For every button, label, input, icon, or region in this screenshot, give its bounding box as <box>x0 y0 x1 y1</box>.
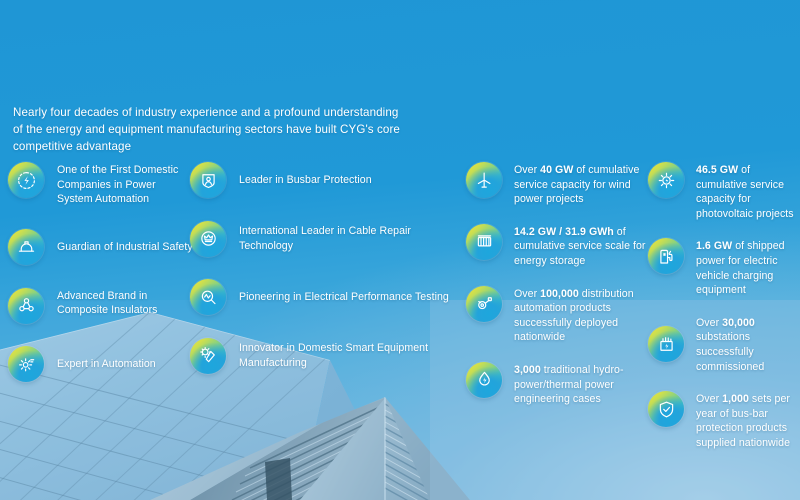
list-item-label: Guardian of Industrial Safety <box>44 239 193 255</box>
intro-paragraph: Nearly four decades of industry experien… <box>13 104 403 156</box>
stat-value: 30,000 <box>722 317 755 329</box>
stat-prefix: Over <box>696 317 722 329</box>
list-item-label: 14.2 GW / 31.9 GWh of cumulative service… <box>502 224 648 269</box>
list-item[interactable]: Expert in Automation <box>8 346 194 382</box>
list-item-label: 1.6 GW of shipped power for electric veh… <box>684 238 800 297</box>
power-system-automation-icon <box>8 162 44 198</box>
list-item-label: International Leader in Cable Repair Tec… <box>226 223 462 253</box>
list-item-label: Innovator in Domestic Smart Equipment Ma… <box>226 340 462 370</box>
list-item-label: 3,000 traditional hydro-power/thermal po… <box>502 362 648 407</box>
stat-value: 1.6 GW <box>696 240 732 252</box>
wind-turbine-icon <box>466 162 502 198</box>
stat-value: 40 GW <box>540 164 573 176</box>
feature-column-1: One of the First Domestic Companies in P… <box>8 162 194 405</box>
substation-icon <box>648 326 684 362</box>
stat-prefix: Over <box>514 288 540 300</box>
list-item-label: Over 30,000 substations successfully com… <box>684 315 800 374</box>
list-item[interactable]: 1.6 GW of shipped power for electric veh… <box>648 238 800 297</box>
list-item-label: Leader in Busbar Protection <box>226 172 372 188</box>
list-item[interactable]: Guardian of Industrial Safety <box>8 229 194 265</box>
list-item[interactable]: 3,000 traditional hydro-power/thermal po… <box>466 362 648 407</box>
list-item[interactable]: Leader in Busbar Protection <box>190 162 462 198</box>
shield-protection-icon <box>648 391 684 427</box>
list-item[interactable]: 14.2 GW / 31.9 GWh of cumulative service… <box>466 224 648 269</box>
list-item[interactable]: Over 1,000 sets per year of bus-bar prot… <box>648 391 800 450</box>
hard-hat-safety-icon <box>8 229 44 265</box>
stat-value: 46.5 GW <box>696 164 738 176</box>
busbar-protection-icon <box>190 162 226 198</box>
list-item[interactable]: Over 100,000 distribution automation pro… <box>466 286 648 345</box>
list-item-label: 46.5 GW of cumulative service capacity f… <box>684 162 800 221</box>
list-item[interactable]: One of the First Domestic Companies in P… <box>8 162 194 207</box>
distribution-automation-icon <box>466 286 502 322</box>
stat-value: 3,000 <box>514 364 541 376</box>
list-item[interactable]: International Leader in Cable Repair Tec… <box>190 221 462 257</box>
stat-prefix: Over <box>514 164 540 176</box>
stat-prefix: Over <box>696 393 722 405</box>
stats-column-3: Over 40 GW of cumulative service capacit… <box>466 162 648 424</box>
stat-suffix: substations successfully commissioned <box>696 331 764 372</box>
list-item-label: Advanced Brand in Composite Insulators <box>44 288 194 318</box>
list-item[interactable]: Pioneering in Electrical Performance Tes… <box>190 279 462 315</box>
list-item-label: Over 1,000 sets per year of bus-bar prot… <box>684 391 800 450</box>
stat-value: 14.2 GW / 31.9 GWh <box>514 226 614 238</box>
ev-charging-icon <box>648 238 684 274</box>
stat-value: 100,000 <box>540 288 579 300</box>
smart-equipment-icon <box>190 338 226 374</box>
stats-column-4: 46.5 GW of cumulative service capacity f… <box>648 162 800 468</box>
list-item-label: Over 100,000 distribution automation pro… <box>502 286 648 345</box>
composite-insulator-icon <box>8 288 44 324</box>
energy-storage-icon <box>466 224 502 260</box>
photovoltaic-sun-icon <box>648 162 684 198</box>
performance-testing-icon <box>190 279 226 315</box>
stat-value: 1,000 <box>722 393 749 405</box>
list-item-label: Expert in Automation <box>44 356 156 372</box>
list-item-label: One of the First Domestic Companies in P… <box>44 162 194 207</box>
list-item[interactable]: Advanced Brand in Composite Insulators <box>8 288 194 324</box>
list-item[interactable]: Over 30,000 substations successfully com… <box>648 315 800 374</box>
list-item-label: Pioneering in Electrical Performance Tes… <box>226 289 449 305</box>
list-item-label: Over 40 GW of cumulative service capacit… <box>502 162 648 207</box>
list-item[interactable]: Innovator in Domestic Smart Equipment Ma… <box>190 338 462 374</box>
gear-automation-icon <box>8 346 44 382</box>
list-item[interactable]: 46.5 GW of cumulative service capacity f… <box>648 162 800 221</box>
feature-column-2: Leader in Busbar Protection Internationa… <box>190 162 462 396</box>
cable-repair-crown-icon <box>190 221 226 257</box>
list-item[interactable]: Over 40 GW of cumulative service capacit… <box>466 162 648 207</box>
hydro-thermal-power-icon <box>466 362 502 398</box>
